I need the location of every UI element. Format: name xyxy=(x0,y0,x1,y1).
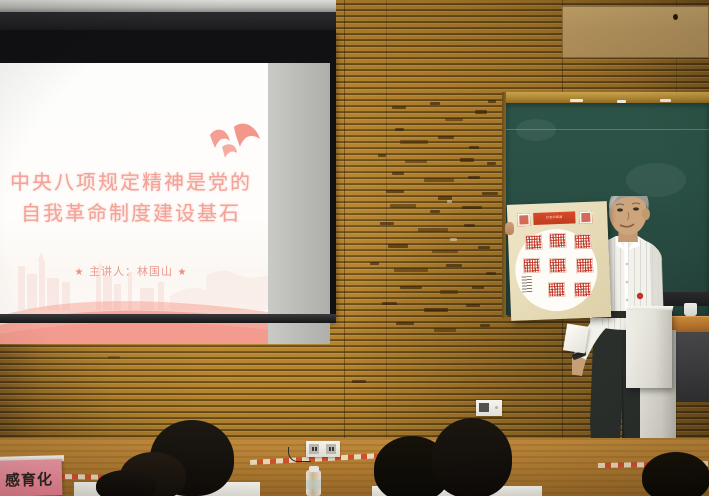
plywood-hole xyxy=(673,14,678,20)
wall-mark xyxy=(405,160,427,163)
wall-mark xyxy=(468,176,480,179)
wall-mark xyxy=(447,200,452,203)
wall-mark xyxy=(378,154,386,157)
audience-head xyxy=(642,452,709,496)
wall-mark xyxy=(395,128,404,131)
wall-mark xyxy=(108,356,120,359)
wall-mark xyxy=(394,268,428,272)
wall-mark xyxy=(386,190,404,193)
wall-mark xyxy=(488,100,496,103)
wall-mark xyxy=(432,250,458,253)
wall-mark xyxy=(440,290,458,294)
wall-seam xyxy=(386,0,387,496)
projection-screen: 中央八项规定精神是党的 自我革命制度建设基石 ★ 主讲人：林国山 ★ xyxy=(0,30,336,320)
wall-mark xyxy=(464,224,475,227)
wall-mark xyxy=(400,286,422,289)
plywood-patch xyxy=(562,6,709,58)
wall-mark xyxy=(392,172,404,175)
poster-seal-stamp xyxy=(549,233,567,249)
bottle-cap xyxy=(309,466,319,472)
wall-mark xyxy=(388,244,408,248)
wall-mark xyxy=(352,380,366,383)
audience-head xyxy=(96,470,156,496)
lecture-hall-photo: 中央八项规定精神是党的 自我革命制度建设基石 ★ 主讲人：林国山 ★ xyxy=(0,0,709,496)
wall-mark xyxy=(382,302,397,305)
chalk-piece xyxy=(570,99,583,102)
poster-caption-text xyxy=(522,276,533,292)
wall-mark xyxy=(396,322,414,325)
bottle-label xyxy=(306,480,321,489)
blackboard-smudge xyxy=(516,119,556,141)
wall-mark xyxy=(486,272,496,275)
projector-screen-housing-shadow xyxy=(0,12,336,32)
control-panel-display xyxy=(479,403,489,412)
wall-mark xyxy=(462,206,482,209)
wall-mark xyxy=(445,118,463,121)
outlet-socket[interactable] xyxy=(309,444,319,454)
desk-name-sign: 感育化 xyxy=(0,459,62,496)
desk-name-sign-text: 感育化 xyxy=(0,468,62,491)
wall-mark xyxy=(418,228,448,232)
poster-seal-stamp xyxy=(523,258,541,274)
wall-control-panel[interactable] xyxy=(476,400,502,416)
poster-banner: 红色印章展 xyxy=(533,211,575,225)
wall-mark xyxy=(469,146,479,149)
wall-mark xyxy=(434,328,456,332)
wall-mark xyxy=(400,140,428,144)
slide-title: 中央八项规定精神是党的 自我革命制度建设基石 xyxy=(6,167,256,229)
wall-power-outlet[interactable] xyxy=(306,441,340,457)
wall-mark xyxy=(482,192,498,195)
wall-mark xyxy=(466,304,480,307)
poster-seal-stamp xyxy=(549,258,567,274)
wall-mark xyxy=(487,162,496,165)
wall-mark xyxy=(430,210,440,213)
poster-seal-stamp xyxy=(525,235,543,251)
screen-unlit-area xyxy=(268,63,330,344)
projection-screen-surface: 中央八项规定精神是党的 自我革命制度建设基石 ★ 主讲人：林国山 ★ xyxy=(0,63,330,344)
wall-mark xyxy=(460,158,474,162)
poster-side-stamp xyxy=(517,213,530,226)
poster-side-stamp xyxy=(579,211,592,224)
wall-seam xyxy=(344,0,345,496)
wall-mark xyxy=(424,178,454,182)
presenter-left-hand xyxy=(505,222,514,235)
wall-mark xyxy=(424,308,448,312)
cup xyxy=(684,303,697,316)
wall-mark xyxy=(430,102,440,105)
slide-canvas: 中央八项规定精神是党的 自我革命制度建设基石 ★ 主讲人：林国山 ★ xyxy=(0,63,268,344)
wall-mark xyxy=(380,222,394,225)
outlet-socket[interactable] xyxy=(326,444,336,454)
slide-title-line-2: 自我革命制度建设基石 xyxy=(6,198,256,229)
audience-head xyxy=(432,418,512,496)
water-bottle xyxy=(306,470,321,496)
wall-mark xyxy=(480,324,490,327)
held-paper-sheet xyxy=(563,323,589,353)
wall-mark xyxy=(446,264,462,267)
wall-mark xyxy=(478,246,490,249)
wall-mark xyxy=(475,110,487,114)
poster: 红色印章展 xyxy=(507,201,611,321)
control-panel-button[interactable] xyxy=(495,406,498,409)
loudspeaker-cabinet xyxy=(626,310,672,388)
wall-mark xyxy=(472,286,484,289)
wall-mark xyxy=(450,238,457,241)
flying-birds-icon xyxy=(204,121,262,159)
poster-banner-text: 红色印章展 xyxy=(533,214,575,220)
chalk-piece xyxy=(660,99,671,102)
poster-seal-stamp xyxy=(574,234,592,250)
wall-mark xyxy=(438,136,454,139)
wall-mark xyxy=(392,106,406,109)
wall-mark xyxy=(390,204,416,208)
slide-title-line-1: 中央八项规定精神是党的 xyxy=(6,167,256,198)
projection-screen-bottom-bar xyxy=(0,314,336,323)
poster-seal-stamp xyxy=(576,258,594,274)
wall-mark xyxy=(370,262,379,265)
blackboard-smudge xyxy=(626,163,686,197)
poster-seal-stamp xyxy=(548,282,566,298)
poster-seal-stamp xyxy=(574,282,592,298)
